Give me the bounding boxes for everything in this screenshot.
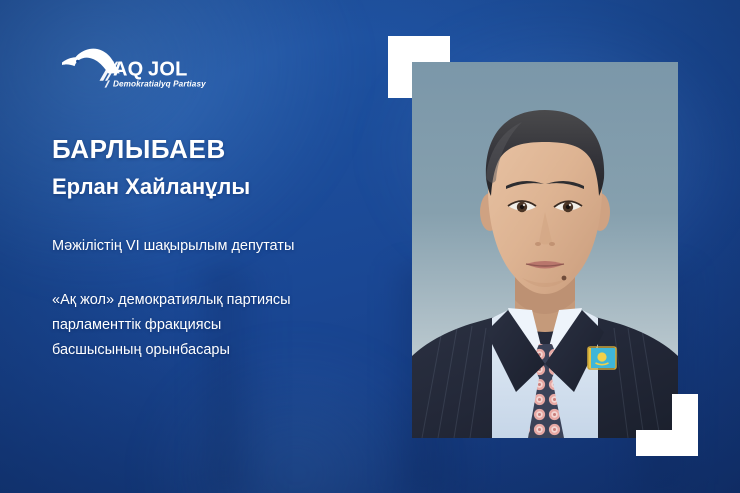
- nostril-left: [535, 242, 541, 246]
- person-description: «Ақ жол» демократиялық партиясы парламен…: [52, 288, 382, 363]
- corner-bracket-top-left-vertical: [388, 36, 414, 98]
- person-info-block: БАРЛЫБАЕВ Ерлан Хайланұлы Мәжілістің VI …: [52, 135, 382, 363]
- portrait-photo: [412, 62, 678, 438]
- portrait-frame: [388, 36, 698, 456]
- description-line-1: «Ақ жол» демократиялық партиясы: [52, 288, 382, 313]
- person-surname: БАРЛЫБАЕВ: [52, 135, 382, 164]
- logo-wordmark-aq: AQ: [113, 59, 143, 81]
- logo-tagline: Demokratialyq Partiasy: [113, 80, 206, 89]
- description-line-2: парламенттік фракциясы: [52, 313, 382, 338]
- description-line-3: басшысының орынбасары: [52, 338, 382, 363]
- person-given-name: Ерлан Хайланұлы: [52, 174, 382, 199]
- logo-wordmark-jol: JOL: [148, 59, 188, 81]
- mole: [562, 276, 567, 281]
- nostril-right: [549, 242, 555, 246]
- logo-tagline-slash: [105, 80, 111, 87]
- kazakhstan-flag-pin: [588, 347, 616, 369]
- deputy-profile-card: AQ JOL Demokratialyq Partiasy БАРЛЫБАЕВ …: [0, 0, 740, 493]
- corner-bracket-bottom-right-vertical: [672, 394, 698, 456]
- aq-jol-logo: AQ JOL Demokratialyq Partiasy: [58, 42, 210, 94]
- person-role: Мәжілістің VI шақырылым депутаты: [52, 237, 382, 256]
- horse-head-icon: [62, 49, 120, 74]
